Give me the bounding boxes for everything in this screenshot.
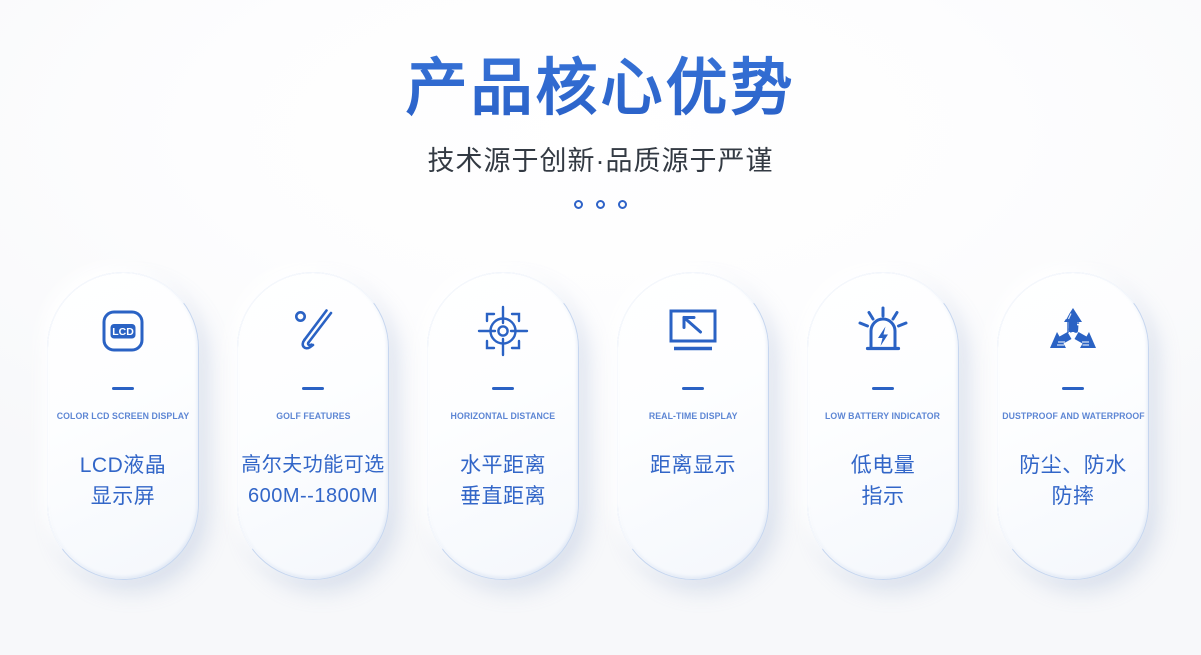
card-cn-label: LCD液晶 显示屏 <box>80 450 167 512</box>
card-divider <box>1062 387 1084 390</box>
card-en-label: LOW BATTERY INDICATOR <box>825 411 940 422</box>
feature-card-golf[interactable]: GOLF FEATURES 高尔夫功能可选 600M--1800M <box>237 272 389 580</box>
card-en-label: COLOR LCD SCREEN DISPLAY <box>57 411 190 422</box>
card-en-label: GOLF FEATURES <box>276 411 350 422</box>
monitor-arrow-icon <box>664 273 722 385</box>
card-divider <box>302 387 324 390</box>
dot-2 <box>596 200 605 209</box>
page-title: 产品核心优势 <box>0 0 1201 123</box>
card-divider <box>112 387 134 390</box>
feature-card-list: LCD COLOR LCD SCREEN DISPLAY LCD液晶 显示屏 G… <box>47 272 1154 580</box>
feature-card-battery[interactable]: LOW BATTERY INDICATOR 低电量 指示 <box>807 272 959 580</box>
golf-club-icon <box>285 273 341 385</box>
alarm-light-bolt-icon <box>855 273 911 385</box>
card-en-label: REAL-TIME DISPLAY <box>649 411 738 422</box>
card-cn-label: 低电量 指示 <box>851 450 916 512</box>
crosshair-target-icon <box>475 273 531 385</box>
decorative-dots <box>0 178 1201 209</box>
card-cn-label: 高尔夫功能可选 600M--1800M <box>241 450 385 512</box>
card-cn-label: 距离显示 <box>650 450 736 481</box>
card-divider <box>872 387 894 390</box>
feature-card-realtime[interactable]: REAL-TIME DISPLAY 距离显示 <box>617 272 769 580</box>
lcd-screen-icon: LCD <box>96 273 150 385</box>
dot-3 <box>618 200 627 209</box>
page-subtitle: 技术源于创新·品质源于严谨 <box>0 123 1201 178</box>
card-divider <box>682 387 704 390</box>
svg-text:LCD: LCD <box>112 326 134 338</box>
recycle-arrows-fang-icon: 防 <box>1044 273 1102 385</box>
page-header: 产品核心优势 技术源于创新·品质源于严谨 <box>0 0 1201 209</box>
svg-text:防: 防 <box>1066 320 1079 336</box>
feature-card-distance[interactable]: HORIZONTAL DISTANCE 水平距离 垂直距离 <box>427 272 579 580</box>
dot-1 <box>574 200 583 209</box>
card-divider <box>492 387 514 390</box>
card-cn-label: 防尘、防水 防摔 <box>1019 450 1127 512</box>
feature-card-lcd[interactable]: LCD COLOR LCD SCREEN DISPLAY LCD液晶 显示屏 <box>47 272 199 580</box>
card-en-label: HORIZONTAL DISTANCE <box>451 411 556 422</box>
card-cn-label: 水平距离 垂直距离 <box>460 450 546 512</box>
product-advantages-page: 产品核心优势 技术源于创新·品质源于严谨 LCD COLOR LCD SCREE… <box>0 0 1201 655</box>
card-en-label: DUSTPROOF AND WATERPROOF <box>1002 411 1145 422</box>
feature-card-dustproof[interactable]: 防 DUSTPROOF AND WATERPROOF 防尘、防水 防摔 <box>997 272 1149 580</box>
